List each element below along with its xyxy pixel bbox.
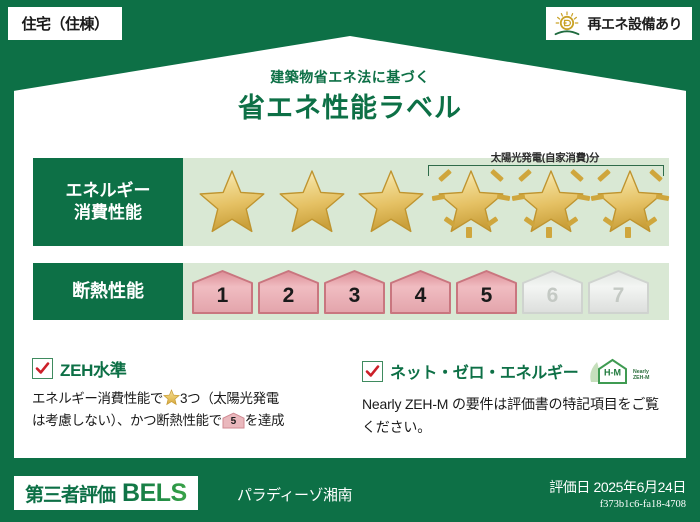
star-glyph-1 bbox=[197, 167, 267, 237]
label-subtitle: 建築物省エネ法に基づく bbox=[0, 67, 700, 87]
svg-text:H-M: H-M bbox=[604, 368, 621, 378]
star-glyph-3 bbox=[356, 167, 426, 237]
svg-text:ZEH-M: ZEH-M bbox=[633, 375, 649, 381]
star-ray-6-7 bbox=[625, 227, 631, 238]
insulation-performance-label: 断熱性能 bbox=[33, 263, 183, 320]
insulation-grade-number-5: 5 bbox=[481, 285, 493, 315]
insulation-grade-number-7: 7 bbox=[613, 285, 625, 315]
evaluation-id: f373b1c6-fa18-4708 bbox=[549, 499, 686, 510]
star-3 bbox=[352, 163, 430, 241]
inline-star-icon bbox=[163, 389, 180, 406]
insulation-grade-7: 7 bbox=[587, 269, 650, 315]
evaluation-date: 評価日 2025年6月24日 bbox=[549, 477, 686, 497]
insulation-grade-1: 1 bbox=[191, 269, 254, 315]
category-chip-label: 住宅（住棟） bbox=[21, 13, 108, 34]
star-ray-4-7 bbox=[466, 227, 472, 238]
label-title: 省エネ性能ラベル bbox=[0, 86, 700, 125]
insulation-grade-number-3: 3 bbox=[349, 285, 361, 315]
net-zero-energy-heading: ネット・ゼロ・エネルギー H-M Nearly ZEH-M bbox=[362, 356, 672, 386]
insulation-grade-3: 3 bbox=[323, 269, 386, 315]
insulation-grades-body: 1234567 bbox=[183, 263, 669, 320]
bels-logo-text: BELS bbox=[122, 479, 187, 508]
insulation-grade-5: 5 bbox=[455, 269, 518, 315]
zeh-standard-heading: ZEH水準 bbox=[32, 356, 342, 381]
insulation-grade-number-4: 4 bbox=[415, 285, 427, 315]
zeh-standard-block: ZEH水準 エネルギー消費性能で 3つ（太陽光発電 は考慮しない）、かつ断熱性能… bbox=[32, 356, 342, 432]
insulation-grade-number-1: 1 bbox=[217, 285, 229, 315]
category-chip: 住宅（住棟） bbox=[8, 7, 122, 40]
renewable-equipment-chip: 再エネ設備あり bbox=[546, 7, 693, 40]
nearly-zeh-m-logo-icon: H-M Nearly ZEH-M bbox=[585, 356, 651, 386]
net-zero-energy-title: ネット・ゼロ・エネルギー bbox=[390, 359, 578, 383]
insulation-grade-2: 2 bbox=[257, 269, 320, 315]
bels-energy-label: ハウス 住宅（住棟） 再エネ設備あり bbox=[0, 0, 700, 522]
inline-house-grade-icon: 5 bbox=[222, 412, 245, 429]
insulation-label-text: 断熱性能 bbox=[72, 280, 144, 304]
zeh-desc-part3: は考慮しない）、かつ断熱性能で bbox=[32, 413, 222, 428]
zeh-desc-part2: 3つ（太陽光発電 bbox=[180, 391, 279, 406]
star-ray-5-7 bbox=[546, 227, 552, 238]
energy-label-line2: 消費性能 bbox=[74, 202, 142, 224]
insulation-grade-scale: 1234567 bbox=[183, 263, 669, 320]
insulation-grade-number-6: 6 bbox=[547, 285, 559, 315]
energy-label-line1: エネルギー bbox=[66, 180, 151, 202]
building-name: パラディーゾ湘南 bbox=[237, 484, 352, 505]
solar-bracket-caption: 太陽光発電(自家消費)分 bbox=[425, 150, 665, 165]
checkbox-checked-netzero bbox=[362, 361, 383, 382]
renewable-chip-label: 再エネ設備あり bbox=[588, 14, 683, 34]
energy-performance-label: エネルギー 消費性能 bbox=[33, 158, 183, 246]
third-party-bels-chip: 第三者評価 BELS bbox=[14, 476, 198, 510]
checkbox-checked-zeh bbox=[32, 358, 53, 379]
star-glyph-2 bbox=[277, 167, 347, 237]
insulation-grade-6: 6 bbox=[521, 269, 584, 315]
third-party-label: 第三者評価 bbox=[25, 480, 115, 507]
inline-house-grade-number: 5 bbox=[222, 412, 245, 429]
evaluation-meta: 評価日 2025年6月24日 f373b1c6-fa18-4708 bbox=[549, 477, 686, 510]
insulation-performance-row: 断熱性能 1234567 bbox=[33, 263, 669, 320]
star-1 bbox=[193, 163, 271, 241]
solar-bracket bbox=[428, 165, 664, 176]
zeh-standard-title: ZEH水準 bbox=[60, 356, 127, 381]
zeh-desc-part4: を達成 bbox=[245, 413, 284, 428]
zeh-desc-part1: エネルギー消費性能で bbox=[32, 391, 163, 406]
net-zero-energy-block: ネット・ゼロ・エネルギー H-M Nearly ZEH-M Nearly ZEH… bbox=[362, 356, 672, 438]
insulation-grade-number-2: 2 bbox=[283, 285, 295, 315]
star-2 bbox=[273, 163, 351, 241]
zeh-standard-description: エネルギー消費性能で 3つ（太陽光発電 は考慮しない）、かつ断熱性能で 5 bbox=[32, 388, 342, 432]
net-zero-energy-description: Nearly ZEH-M の要件は評価書の特記項目をご覧ください。 bbox=[362, 393, 672, 438]
sun-renewable-icon bbox=[552, 11, 582, 37]
insulation-grade-4: 4 bbox=[389, 269, 452, 315]
